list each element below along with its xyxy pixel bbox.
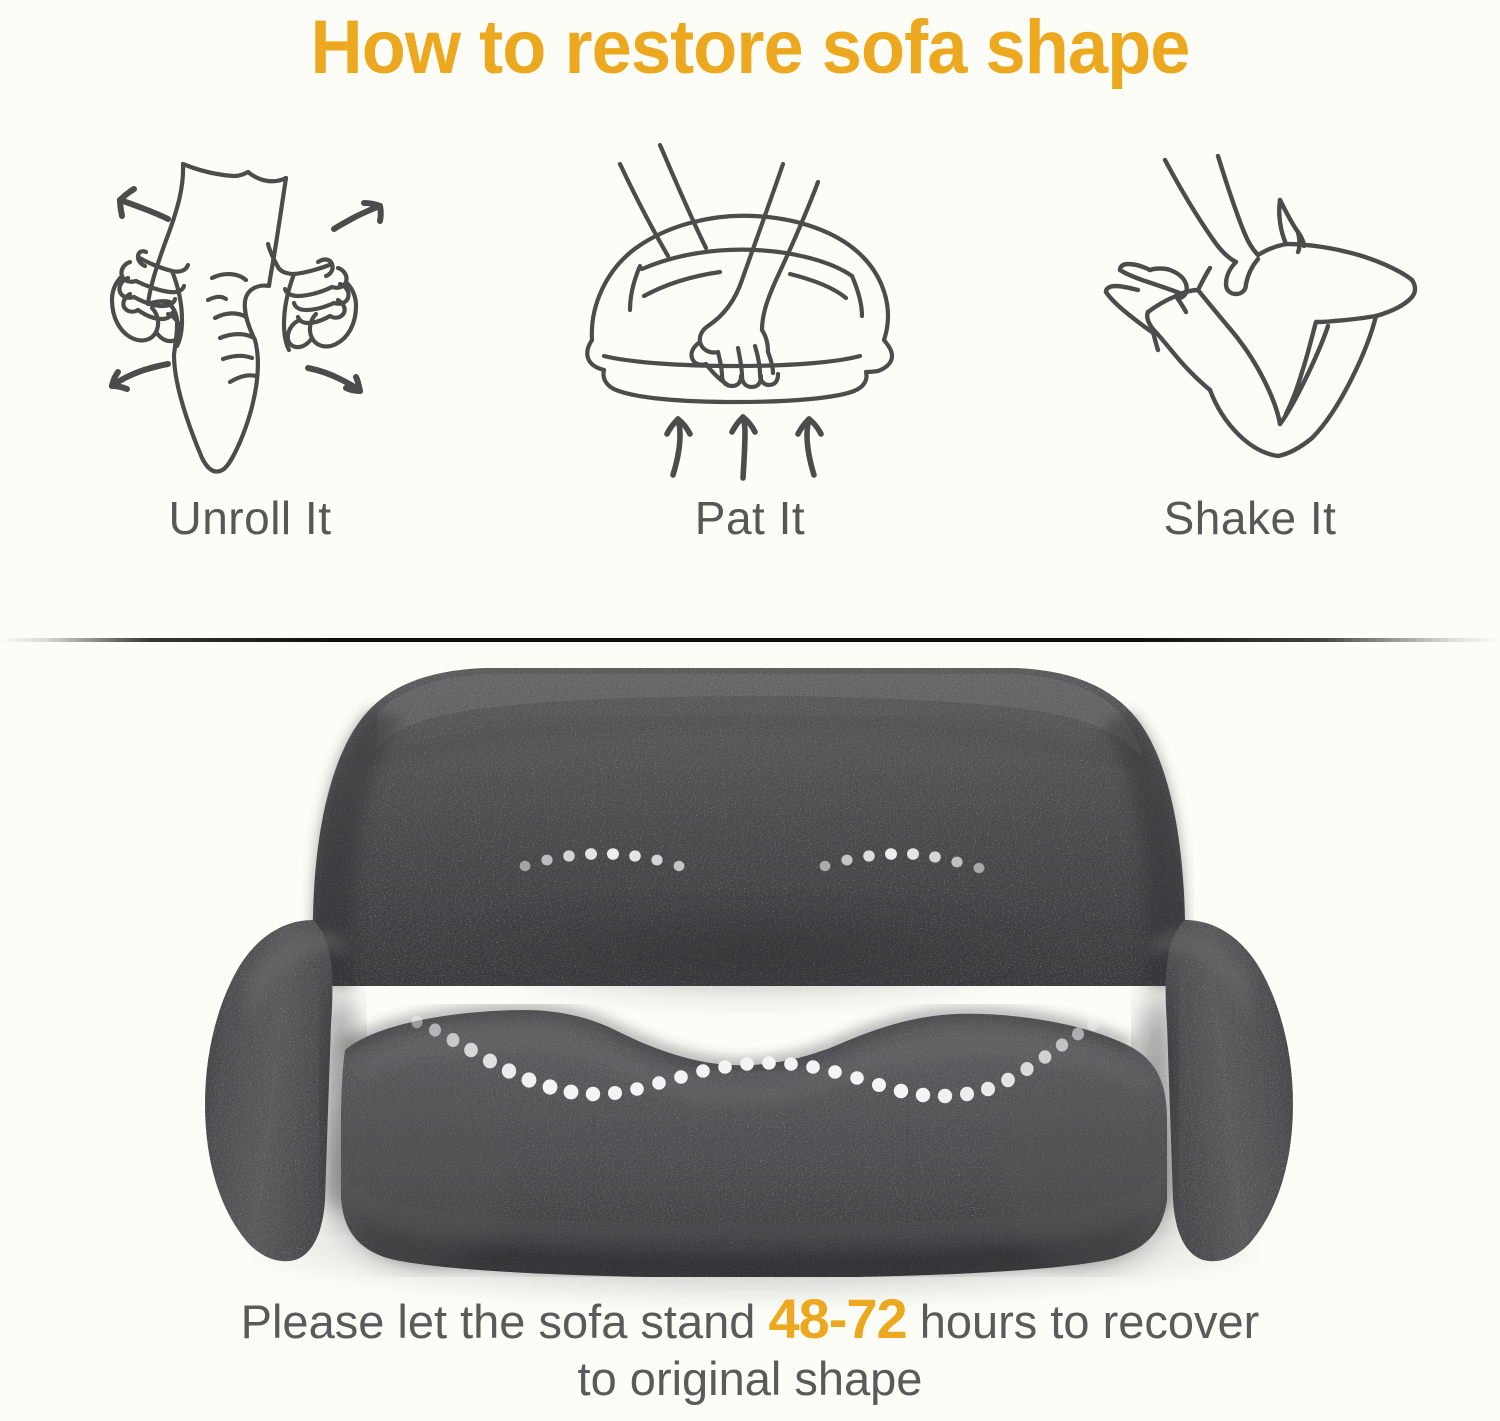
step-shake-it: Shake It (1000, 140, 1500, 610)
product-section: Please let the sofa stand 48-72 hours to… (0, 642, 1500, 1421)
step-unroll-it: Unroll It (0, 140, 500, 610)
caption-text-after: hours to recover (907, 1295, 1260, 1348)
arrow-down-right-icon (308, 368, 360, 391)
arrow-up-right-icon (334, 203, 381, 229)
step-pat-it: Pat It (500, 140, 1000, 610)
arrow-up-icon (732, 417, 755, 478)
caption-line-two: to original shape (0, 1350, 1500, 1407)
arrow-up-left-icon (120, 189, 168, 219)
arrow-up-icon (667, 419, 690, 475)
recovery-time-caption: Please let the sofa stand 48-72 hours to… (0, 1290, 1500, 1407)
hands-unrolling-cloth-with-outward-arrows-icon (50, 140, 450, 485)
sofa-stage (0, 642, 1500, 1302)
instruction-graphic-page: How to restore sofa shape (0, 0, 1500, 1421)
hands-shaking-cloth-icon (1050, 140, 1450, 485)
arrow-up-icon (798, 419, 821, 475)
step-label: Unroll It (169, 491, 332, 545)
caption-text-before: Please let the sofa stand (241, 1295, 769, 1348)
steps-row: Unroll It (0, 140, 1500, 610)
caption-highlight-hours: 48-72 (768, 1287, 906, 1350)
step-label: Shake It (1164, 491, 1337, 545)
hands-patting-cushion-with-upward-arrows-icon (550, 140, 950, 485)
step-label: Pat It (695, 491, 805, 545)
dark-gray-plush-loveseat-sofa (195, 652, 1305, 1277)
steps-section: How to restore sofa shape (0, 0, 1500, 641)
page-title: How to restore sofa shape (38, 4, 1463, 91)
arrow-down-left-icon (112, 364, 168, 389)
